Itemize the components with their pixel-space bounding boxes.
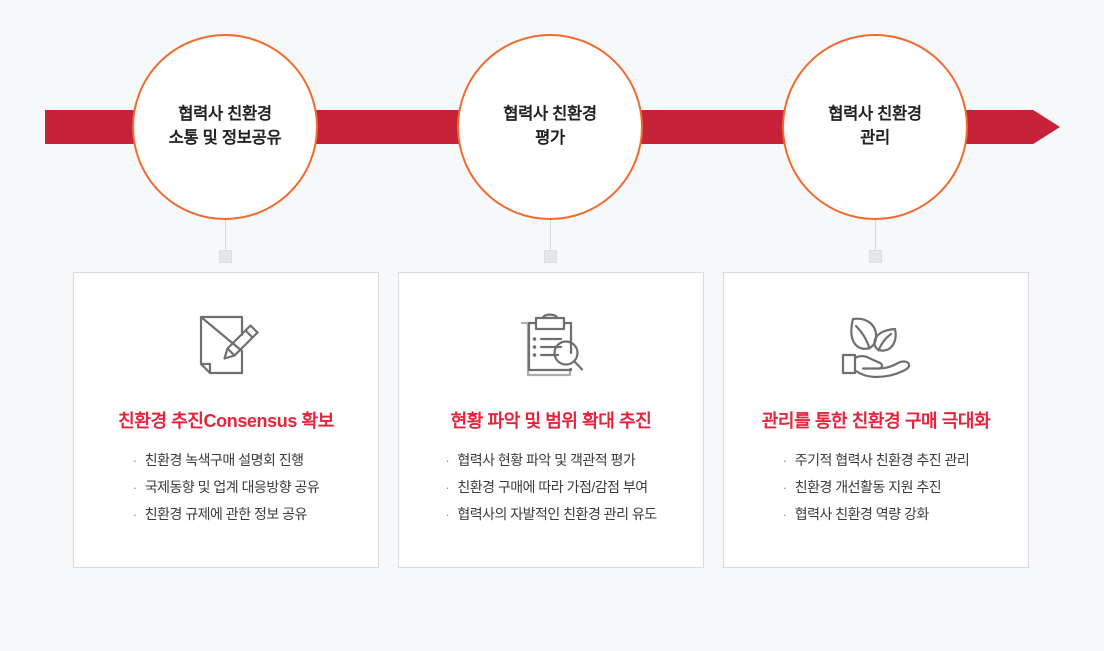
connector-1	[218, 214, 232, 263]
connector-node	[219, 250, 232, 263]
connector-3	[868, 214, 882, 263]
list-item-label: 주기적 협력사 친환경 추진 관리	[795, 447, 970, 474]
bullet-icon: ·	[783, 448, 795, 473]
bullet-icon: ·	[133, 475, 145, 500]
hand-leaf-icon	[835, 313, 917, 383]
list-item-label: 협력사 친환경 역량 강화	[795, 501, 929, 528]
card-bullet-list-2: · 협력사 현황 파악 및 객관적 평가 · 친환경 구매에 따라 가점/감점 …	[445, 447, 656, 529]
list-item: · 친환경 개선활동 지원 추진	[783, 474, 970, 501]
stage-circle-3: 협력사 친환경 관리	[782, 34, 968, 220]
card-bullet-list-1: · 친환경 녹색구매 설명회 진행 · 국제동향 및 업계 대응방향 공유 · …	[133, 447, 320, 529]
stage-circle-1: 협력사 친환경 소통 및 정보공유	[132, 34, 318, 220]
list-item: · 협력사 친환경 역량 강화	[783, 501, 970, 528]
bullet-icon: ·	[445, 502, 457, 527]
connector-node	[869, 250, 882, 263]
list-item: · 친환경 녹색구매 설명회 진행	[133, 447, 320, 474]
bullet-icon: ·	[133, 448, 145, 473]
list-item-label: 국제동향 및 업계 대응방향 공유	[145, 474, 320, 501]
card-title-3: 관리를 통한 친환경 구매 극대화	[762, 411, 990, 433]
card-bullet-list-3: · 주기적 협력사 친환경 추진 관리 · 친환경 개선활동 지원 추진 · 협…	[783, 447, 970, 529]
bullet-icon: ·	[133, 502, 145, 527]
stage-circle-label-3: 협력사 친환경 관리	[828, 103, 922, 151]
connector-2	[543, 214, 557, 263]
card-title-2: 현황 파악 및 범위 확대 추진	[451, 411, 652, 433]
infographic-canvas: 협력사 친환경 소통 및 정보공유 협력사 친환경 평가 협력사 친환경 관리 …	[0, 0, 1104, 651]
detail-card-2: 현황 파악 및 범위 확대 추진 · 협력사 현황 파악 및 객관적 평가 · …	[398, 272, 704, 568]
clipboard-magnifier-icon	[513, 313, 589, 383]
list-item: · 협력사의 자발적인 친환경 관리 유도	[445, 501, 656, 528]
stage-circle-label-1: 협력사 친환경 소통 및 정보공유	[169, 103, 282, 151]
document-pencil-icon	[188, 313, 264, 383]
list-item: · 친환경 규제에 관한 정보 공유	[133, 501, 320, 528]
list-item: · 국제동향 및 업계 대응방향 공유	[133, 474, 320, 501]
bullet-icon: ·	[783, 475, 795, 500]
list-item-label: 친환경 규제에 관한 정보 공유	[145, 501, 307, 528]
bullet-icon: ·	[445, 448, 457, 473]
stage-circle-2: 협력사 친환경 평가	[457, 34, 643, 220]
list-item-label: 친환경 구매에 따라 가점/감점 부여	[457, 474, 647, 501]
list-item-label: 협력사의 자발적인 친환경 관리 유도	[457, 501, 656, 528]
list-item-label: 친환경 개선활동 지원 추진	[795, 474, 941, 501]
stage-circle-label-2: 협력사 친환경 평가	[503, 103, 597, 151]
list-item: · 친환경 구매에 따라 가점/감점 부여	[445, 474, 656, 501]
detail-card-3: 관리를 통한 친환경 구매 극대화 · 주기적 협력사 친환경 추진 관리 · …	[723, 272, 1029, 568]
list-item-label: 친환경 녹색구매 설명회 진행	[145, 447, 304, 474]
list-item-label: 협력사 현황 파악 및 객관적 평가	[457, 447, 635, 474]
bullet-icon: ·	[783, 502, 795, 527]
card-title-1: 친환경 추진Consensus 확보	[118, 411, 334, 433]
connector-node	[544, 250, 557, 263]
detail-card-1: 친환경 추진Consensus 확보 · 친환경 녹색구매 설명회 진행 · 국…	[73, 272, 379, 568]
bullet-icon: ·	[445, 475, 457, 500]
list-item: · 협력사 현황 파악 및 객관적 평가	[445, 447, 656, 474]
list-item: · 주기적 협력사 친환경 추진 관리	[783, 447, 970, 474]
